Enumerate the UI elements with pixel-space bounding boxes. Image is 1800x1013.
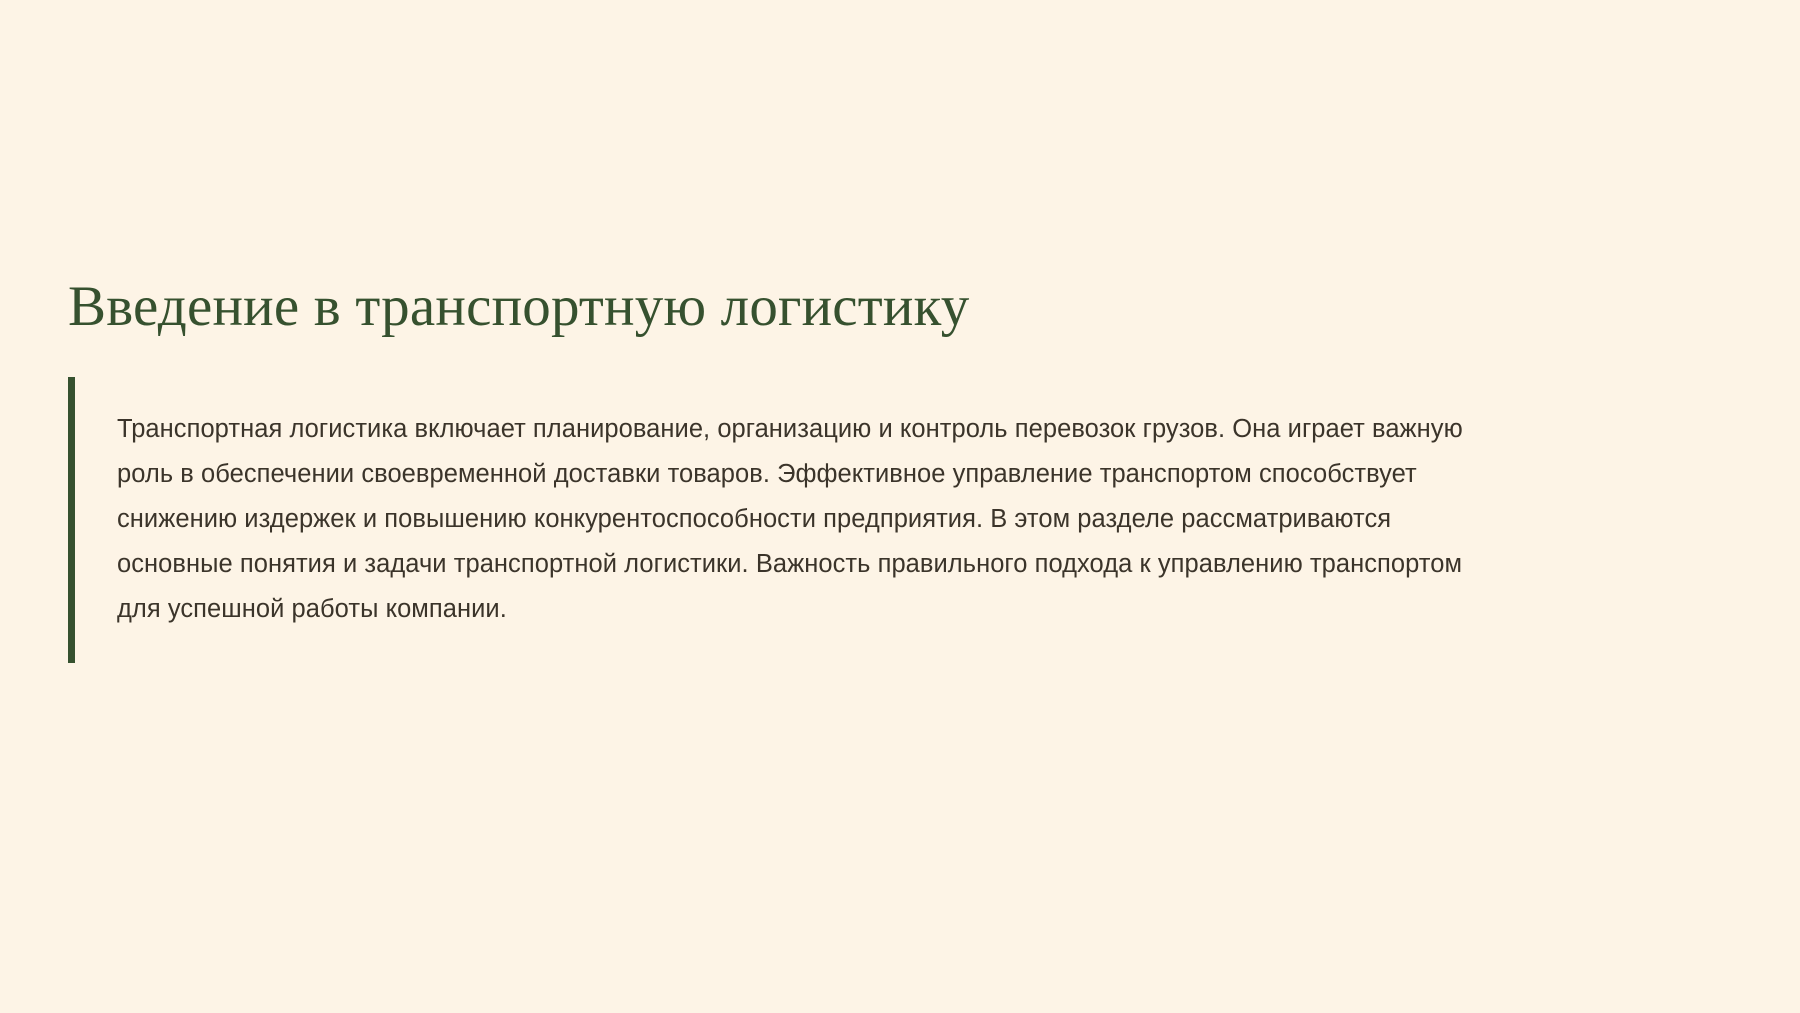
body-paragraph: Транспортная логистика включает планиров… xyxy=(75,402,1466,637)
callout-block: Транспортная логистика включает планиров… xyxy=(68,377,1466,663)
accent-bar xyxy=(68,377,75,663)
slide-content: Введение в транспортную логистику Трансп… xyxy=(68,275,1728,663)
page-title: Введение в транспортную логистику xyxy=(68,275,1728,339)
slide-canvas: Введение в транспортную логистику Трансп… xyxy=(0,0,1800,1013)
